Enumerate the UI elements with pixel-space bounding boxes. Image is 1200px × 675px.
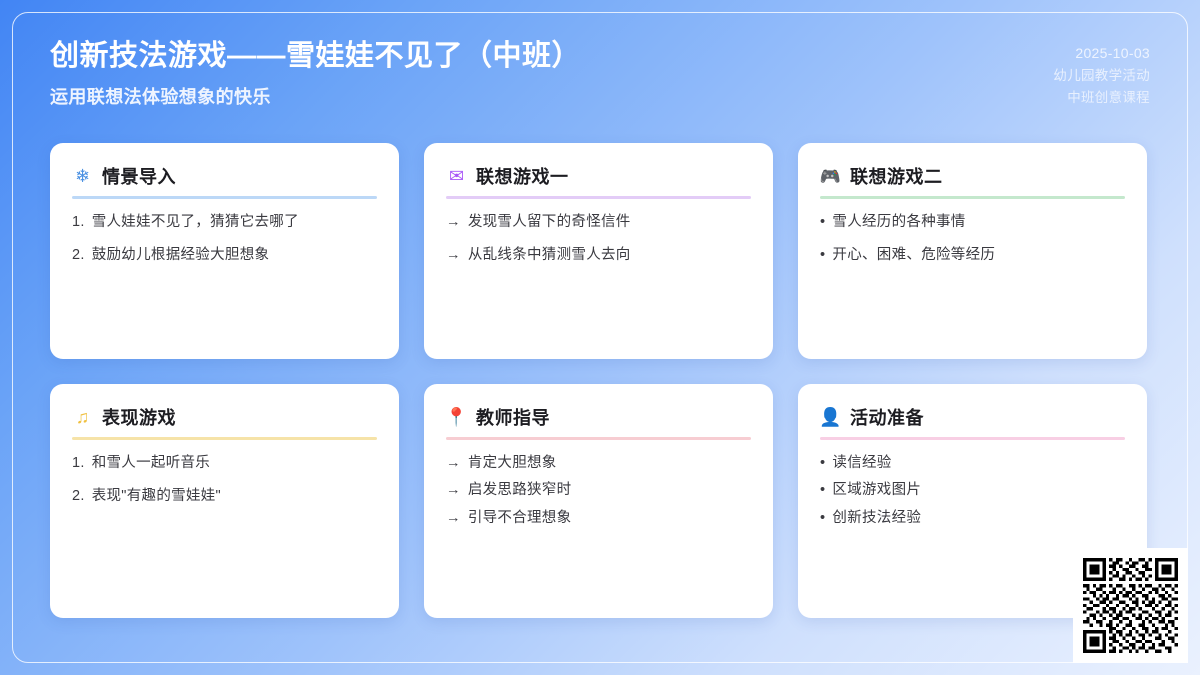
qr-code-image xyxy=(1083,558,1178,653)
slide-header: 创新技法游戏——雪娃娃不见了（中班） 运用联想法体验想象的快乐 2025-10-… xyxy=(50,34,1150,138)
card-underline xyxy=(820,437,1125,440)
card-联想游戏一: ✉联想游戏一→发现雪人留下的奇怪信件→从乱线条中猜测雪人去向 xyxy=(424,143,773,359)
card-header: ❄情景导入 xyxy=(72,163,377,196)
card-header: ♫表现游戏 xyxy=(72,404,377,437)
list-marker: • xyxy=(820,212,825,234)
list-item-text: 肯定大胆想象 xyxy=(468,453,557,475)
meta-course: 中班创意课程 xyxy=(1053,87,1150,109)
list-marker: → xyxy=(446,480,461,502)
list-marker: 1. xyxy=(72,453,85,475)
location-pin-icon: 📍 xyxy=(446,407,467,428)
list-item: 2.表现"有趣的雪娃娃" xyxy=(72,486,377,508)
list-item-text: 创新技法经验 xyxy=(832,508,921,530)
list-marker: 2. xyxy=(72,245,85,267)
header-title-block: 创新技法游戏——雪娃娃不见了（中班） 运用联想法体验想象的快乐 xyxy=(50,34,581,109)
list-item-text: 表现"有趣的雪娃娃" xyxy=(92,486,221,508)
qr-code[interactable] xyxy=(1073,548,1188,663)
list-item: →肯定大胆想象 xyxy=(446,453,751,475)
card-item-list: •读信经验•区域游戏图片•创新技法经验 xyxy=(820,453,1125,530)
list-item: •读信经验 xyxy=(820,453,1125,475)
list-item-text: 雪人娃娃不见了，猜猜它去哪了 xyxy=(92,212,299,234)
card-title: 联想游戏一 xyxy=(476,163,569,189)
page-subtitle: 运用联想法体验想象的快乐 xyxy=(50,83,581,109)
card-联想游戏二: 🎮联想游戏二•雪人经历的各种事情•开心、困难、危险等经历 xyxy=(798,143,1147,359)
list-item: •雪人经历的各种事情 xyxy=(820,212,1125,234)
list-marker: • xyxy=(820,245,825,267)
card-underline xyxy=(72,437,377,440)
list-marker: → xyxy=(446,508,461,530)
list-item-text: 雪人经历的各种事情 xyxy=(832,212,965,234)
music-note-icon: ♫ xyxy=(72,407,93,428)
list-item: →启发思路狭窄时 xyxy=(446,480,751,502)
list-item: →发现雪人留下的奇怪信件 xyxy=(446,212,751,234)
card-title: 教师指导 xyxy=(476,404,550,430)
person-icon: 👤 xyxy=(820,407,841,428)
card-grid: ❄情景导入1.雪人娃娃不见了，猜猜它去哪了2.鼓励幼儿根据经验大胆想象✉联想游戏… xyxy=(50,143,1150,618)
list-item: •创新技法经验 xyxy=(820,508,1125,530)
card-underline xyxy=(446,437,751,440)
list-marker: → xyxy=(446,212,461,234)
card-item-list: •雪人经历的各种事情•开心、困难、危险等经历 xyxy=(820,212,1125,268)
card-header: 🎮联想游戏二 xyxy=(820,163,1125,196)
card-header: ✉联想游戏一 xyxy=(446,163,751,196)
list-item-text: 发现雪人留下的奇怪信件 xyxy=(468,212,631,234)
header-meta-block: 2025-10-03 幼儿园教学活动 中班创意课程 xyxy=(1053,34,1150,108)
card-item-list: →肯定大胆想象→启发思路狭窄时→引导不合理想象 xyxy=(446,453,751,530)
card-item-list: 1.雪人娃娃不见了，猜猜它去哪了2.鼓励幼儿根据经验大胆想象 xyxy=(72,212,377,268)
card-教师指导: 📍教师指导→肯定大胆想象→启发思路狭窄时→引导不合理想象 xyxy=(424,384,773,618)
card-title: 活动准备 xyxy=(850,404,924,430)
card-情景导入: ❄情景导入1.雪人娃娃不见了，猜猜它去哪了2.鼓励幼儿根据经验大胆想象 xyxy=(50,143,399,359)
list-item-text: 鼓励幼儿根据经验大胆想象 xyxy=(92,245,270,267)
list-marker: 1. xyxy=(72,212,85,234)
list-marker: → xyxy=(446,453,461,475)
page-title: 创新技法游戏——雪娃娃不见了（中班） xyxy=(50,38,581,74)
card-表现游戏: ♫表现游戏1.和雪人一起听音乐2.表现"有趣的雪娃娃" xyxy=(50,384,399,618)
slide-root: 创新技法游戏——雪娃娃不见了（中班） 运用联想法体验想象的快乐 2025-10-… xyxy=(0,0,1200,675)
card-item-list: →发现雪人留下的奇怪信件→从乱线条中猜测雪人去向 xyxy=(446,212,751,268)
list-item: →从乱线条中猜测雪人去向 xyxy=(446,245,751,267)
card-item-list: 1.和雪人一起听音乐2.表现"有趣的雪娃娃" xyxy=(72,453,377,509)
list-item-text: 启发思路狭窄时 xyxy=(468,480,572,502)
card-title: 表现游戏 xyxy=(102,404,176,430)
card-header: 👤活动准备 xyxy=(820,404,1125,437)
meta-date: 2025-10-03 xyxy=(1053,42,1150,65)
card-underline xyxy=(72,196,377,199)
list-item-text: 从乱线条中猜测雪人去向 xyxy=(468,245,631,267)
list-item: •区域游戏图片 xyxy=(820,480,1125,502)
card-title: 情景导入 xyxy=(102,163,176,189)
card-title: 联想游戏二 xyxy=(850,163,943,189)
list-item-text: 区域游戏图片 xyxy=(832,480,921,502)
list-item: 2.鼓励幼儿根据经验大胆想象 xyxy=(72,245,377,267)
list-marker: 2. xyxy=(72,486,85,508)
snowflake-icon: ❄ xyxy=(72,166,93,187)
envelope-icon: ✉ xyxy=(446,166,467,187)
list-marker: • xyxy=(820,508,825,530)
meta-category: 幼儿园教学活动 xyxy=(1053,65,1150,87)
list-item-text: 开心、困难、危险等经历 xyxy=(832,245,995,267)
list-item-text: 引导不合理想象 xyxy=(468,508,572,530)
card-underline xyxy=(820,196,1125,199)
card-underline xyxy=(446,196,751,199)
list-marker: • xyxy=(820,480,825,502)
list-item-text: 和雪人一起听音乐 xyxy=(92,453,210,475)
card-header: 📍教师指导 xyxy=(446,404,751,437)
list-item: →引导不合理想象 xyxy=(446,508,751,530)
list-marker: • xyxy=(820,453,825,475)
game-controller-icon: 🎮 xyxy=(820,166,841,187)
list-item: •开心、困难、危险等经历 xyxy=(820,245,1125,267)
list-item: 1.雪人娃娃不见了，猜猜它去哪了 xyxy=(72,212,377,234)
list-item-text: 读信经验 xyxy=(832,453,891,475)
list-marker: → xyxy=(446,245,461,267)
list-item: 1.和雪人一起听音乐 xyxy=(72,453,377,475)
